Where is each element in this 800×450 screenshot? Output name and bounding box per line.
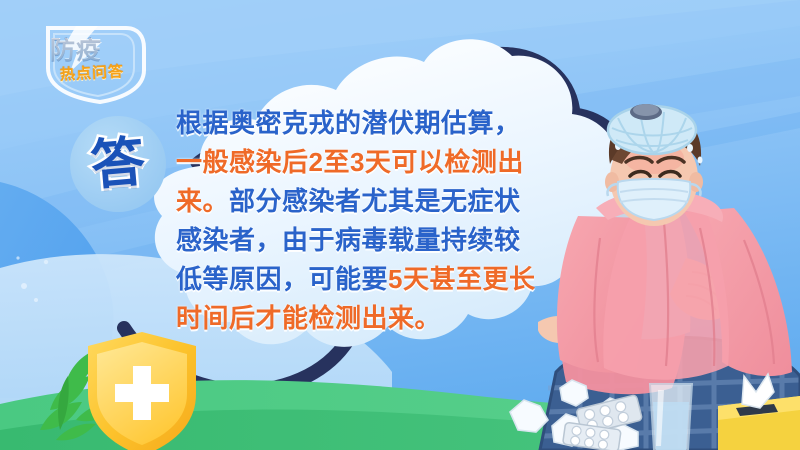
text-segment: 来。 (176, 186, 229, 216)
logo-sub-text: 热点问答 (60, 64, 125, 82)
bubble-line: 时间后才能检测出来。 (176, 299, 580, 338)
poster-canvas: 防疫 热点问答 答 根据奥密克戎的潜伏期估算， 一般感染后2至3天可以检测出 来… (0, 0, 800, 450)
text-segment: 5天甚至更长 (388, 264, 535, 294)
answer-character: 答 (68, 133, 168, 195)
text-segment: 根据奥密克戎的潜伏期估算， (176, 108, 521, 138)
text-segment: 感染者，由于病毒载量持续较 (176, 225, 521, 255)
bubble-text-block: 根据奥密克戎的潜伏期估算， 一般感染后2至3天可以检测出 来。部分感染者尤其是无… (176, 104, 580, 338)
text-segment: 低等原因，可能要 (176, 264, 388, 294)
answer-badge: 答 (70, 116, 166, 212)
fangyi-hotspot-qa-logo: 防疫 热点问答 (14, 22, 154, 104)
bubble-line: 一般感染后2至3天可以检测出 (176, 143, 580, 182)
bubble-line: 感染者，由于病毒载量持续较 (176, 221, 580, 260)
bubble-line: 根据奥密克戎的潜伏期估算， (176, 104, 580, 143)
ice-pack-icon (608, 104, 696, 154)
bubble-line: 来。部分感染者尤其是无症状 (176, 182, 580, 221)
text-segment: 一般感染后2至3天可以检测出 (176, 147, 524, 177)
text-segment: 时间后才能检测出来。 (176, 303, 441, 333)
water-glass-icon (650, 384, 692, 450)
logo-main-text: 防疫 (50, 38, 102, 63)
bubble-line: 低等原因，可能要5天甚至更长 (176, 260, 580, 299)
text-segment: 部分感染者尤其是无症状 (229, 186, 521, 216)
